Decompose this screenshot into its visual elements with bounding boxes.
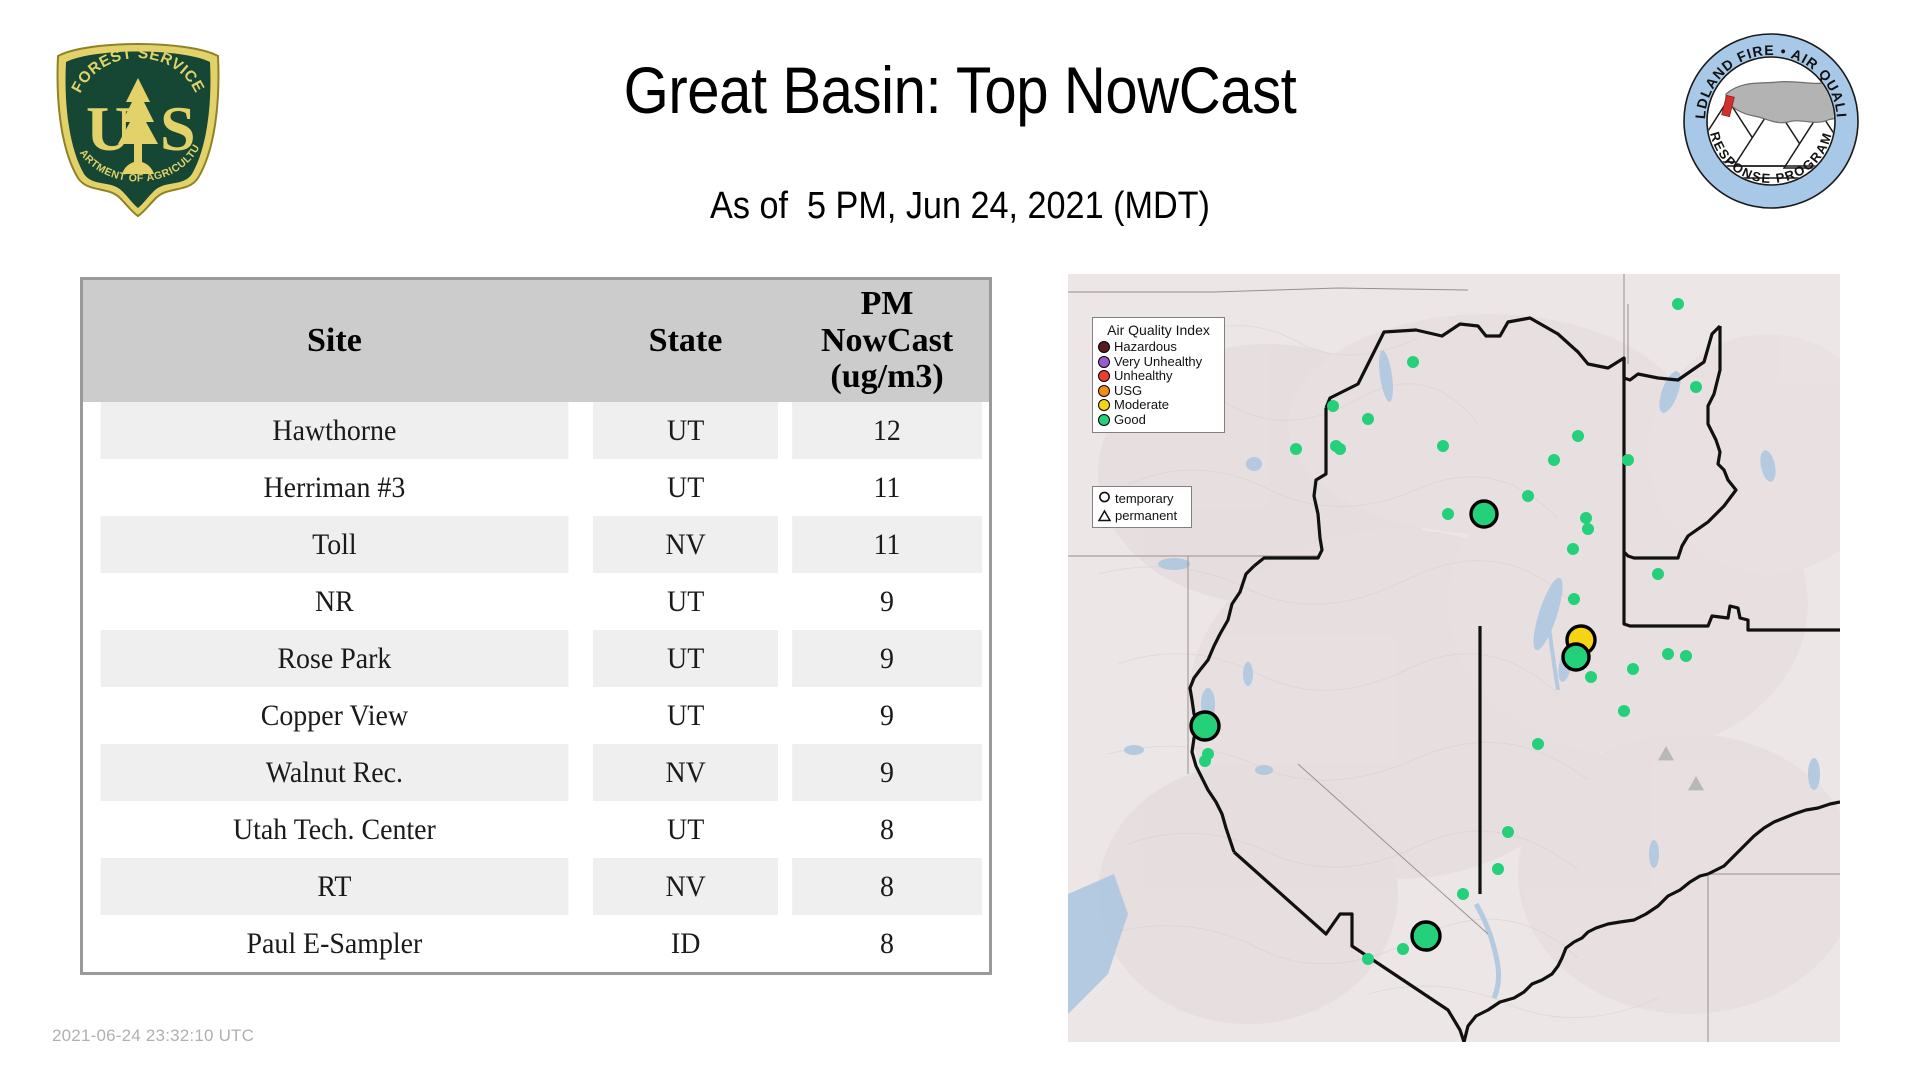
aqi-legend-label: USG bbox=[1114, 384, 1142, 398]
pm-header-line-3: (ug/m3) bbox=[785, 359, 989, 396]
aqi-legend-label: Very Unhealthy bbox=[1114, 355, 1202, 369]
aqi-legend-item-good: Good bbox=[1098, 413, 1219, 428]
map-marker-good[interactable] bbox=[1522, 490, 1534, 502]
aqi-legend-label: Good bbox=[1114, 413, 1146, 427]
map-marker-good[interactable] bbox=[1680, 650, 1692, 662]
map-marker-good[interactable] bbox=[1672, 298, 1684, 310]
table-row[interactable]: Walnut Rec.NV9 bbox=[83, 744, 989, 801]
aqi-legend-label: Moderate bbox=[1114, 398, 1169, 412]
map-marker-good[interactable] bbox=[1585, 671, 1597, 683]
map-marker-good[interactable] bbox=[1690, 381, 1702, 393]
page-title: Great Basin: Top NowCast bbox=[115, 52, 1805, 128]
cell-site: Copper View bbox=[101, 687, 569, 744]
aqi-legend-item-hazardous: Hazardous bbox=[1098, 340, 1219, 355]
cell-site: Rose Park bbox=[101, 630, 569, 687]
triangle-icon bbox=[1097, 508, 1112, 523]
cell-pm: 9 bbox=[792, 630, 982, 687]
aqi-legend-rows: HazardousVery UnhealthyUnhealthyUSGModer… bbox=[1098, 340, 1219, 427]
aqi-swatch-icon bbox=[1098, 385, 1110, 397]
map-marker-good[interactable] bbox=[1567, 543, 1579, 555]
cell-pm: 8 bbox=[792, 915, 982, 972]
table-row[interactable]: HawthorneUT12 bbox=[83, 402, 989, 459]
legend-row-temporary: temporary bbox=[1097, 490, 1187, 507]
pm-header-line-2: NowCast bbox=[785, 323, 989, 360]
map-marker-highlighted-good[interactable] bbox=[1471, 501, 1497, 527]
cell-state: NV bbox=[593, 858, 778, 915]
cell-state: UT bbox=[593, 687, 778, 744]
nowcast-table: Site State PM NowCast (ug/m3) HawthorneU… bbox=[80, 277, 992, 975]
table-row[interactable]: Herriman #3UT11 bbox=[83, 459, 989, 516]
map-marker-good[interactable] bbox=[1327, 400, 1339, 412]
column-header-state[interactable]: State bbox=[586, 280, 785, 402]
aqi-legend-label: Hazardous bbox=[1114, 340, 1177, 354]
cell-site: Hawthorne bbox=[101, 402, 569, 459]
cell-pm: 8 bbox=[792, 858, 982, 915]
table-header-row: Site State PM NowCast (ug/m3) bbox=[83, 280, 989, 402]
cell-site: Utah Tech. Center bbox=[101, 801, 569, 858]
map-marker-good[interactable] bbox=[1652, 568, 1664, 580]
legend-label-permanent: permanent bbox=[1115, 509, 1177, 523]
map-marker-good[interactable] bbox=[1618, 705, 1630, 717]
aqi-legend-item-unhealthy: Unhealthy bbox=[1098, 369, 1219, 384]
aqi-legend-item-moderate: Moderate bbox=[1098, 398, 1219, 413]
map-marker-good[interactable] bbox=[1492, 863, 1504, 875]
cell-state: ID bbox=[593, 915, 778, 972]
map-marker-good[interactable] bbox=[1290, 443, 1302, 455]
cell-pm: 12 bbox=[792, 402, 982, 459]
map-marker-good[interactable] bbox=[1568, 593, 1580, 605]
cell-pm: 9 bbox=[792, 744, 982, 801]
cell-site: Herriman #3 bbox=[101, 459, 569, 516]
cell-state: UT bbox=[593, 573, 778, 630]
map-marker-good[interactable] bbox=[1334, 443, 1346, 455]
map-marker-good[interactable] bbox=[1572, 430, 1584, 442]
table-row[interactable]: RTNV8 bbox=[83, 858, 989, 915]
table-body: HawthorneUT12Herriman #3UT11TollNV11NRUT… bbox=[83, 402, 989, 972]
cell-pm: 9 bbox=[792, 573, 982, 630]
cell-state: UT bbox=[593, 459, 778, 516]
aqi-legend-item-very-unhealthy: Very Unhealthy bbox=[1098, 355, 1219, 370]
aqi-swatch-icon bbox=[1098, 356, 1110, 368]
map-marker-good[interactable] bbox=[1437, 440, 1449, 452]
aqi-legend: Air Quality Index HazardousVery Unhealth… bbox=[1092, 317, 1225, 433]
map-marker-good[interactable] bbox=[1548, 454, 1560, 466]
pm-header-line-1: PM bbox=[785, 286, 989, 323]
map-marker-good[interactable] bbox=[1662, 648, 1674, 660]
cell-pm: 11 bbox=[792, 516, 982, 573]
cell-state: UT bbox=[593, 402, 778, 459]
cell-pm: 11 bbox=[792, 459, 982, 516]
footer-timestamp: 2021-06-24 23:32:10 UTC bbox=[52, 1026, 254, 1046]
cell-pm: 9 bbox=[792, 687, 982, 744]
column-header-pm-nowcast[interactable]: PM NowCast (ug/m3) bbox=[785, 280, 989, 402]
aqi-legend-title: Air Quality Index bbox=[1098, 322, 1219, 338]
map-marker-good[interactable] bbox=[1582, 523, 1594, 535]
cell-state: UT bbox=[593, 630, 778, 687]
map-marker-good[interactable] bbox=[1502, 826, 1514, 838]
column-header-site[interactable]: Site bbox=[83, 280, 586, 402]
aqi-swatch-icon bbox=[1098, 341, 1110, 353]
page-subtitle: As of 5 PM, Jun 24, 2021 (MDT) bbox=[96, 185, 1824, 228]
map-marker-highlighted-good[interactable] bbox=[1191, 712, 1219, 740]
map-marker-good[interactable] bbox=[1442, 508, 1454, 520]
table-row[interactable]: Rose ParkUT9 bbox=[83, 630, 989, 687]
cell-site: RT bbox=[101, 858, 569, 915]
cell-site: NR bbox=[101, 573, 569, 630]
cell-site: Walnut Rec. bbox=[101, 744, 569, 801]
aqi-swatch-icon bbox=[1098, 399, 1110, 411]
legend-label-temporary: temporary bbox=[1115, 492, 1174, 506]
air-quality-map[interactable]: Air Quality Index HazardousVery Unhealth… bbox=[1068, 274, 1840, 1042]
legend-row-permanent: permanent bbox=[1097, 507, 1187, 524]
table-row[interactable]: Utah Tech. CenterUT8 bbox=[83, 801, 989, 858]
map-marker-highlighted-good[interactable] bbox=[1563, 644, 1589, 670]
table-row[interactable]: Paul E-SamplerID8 bbox=[83, 915, 989, 972]
map-marker-good[interactable] bbox=[1362, 953, 1374, 965]
cell-state: UT bbox=[593, 801, 778, 858]
cell-state: NV bbox=[593, 744, 778, 801]
table-row[interactable]: Copper ViewUT9 bbox=[83, 687, 989, 744]
map-marker-good[interactable] bbox=[1532, 738, 1544, 750]
circle-icon bbox=[1097, 491, 1112, 506]
site-type-legend: temporary permanent bbox=[1092, 486, 1192, 528]
cell-site: Toll bbox=[101, 516, 569, 573]
map-marker-good[interactable] bbox=[1627, 663, 1639, 675]
map-marker-good[interactable] bbox=[1199, 755, 1211, 767]
map-marker-good[interactable] bbox=[1622, 454, 1634, 466]
map-marker-good[interactable] bbox=[1397, 943, 1409, 955]
map-marker-good[interactable] bbox=[1362, 413, 1374, 425]
aqi-legend-item-usg: USG bbox=[1098, 384, 1219, 399]
map-marker-good[interactable] bbox=[1407, 356, 1419, 368]
table-row[interactable]: NRUT9 bbox=[83, 573, 989, 630]
map-marker-good[interactable] bbox=[1457, 888, 1469, 900]
aqi-swatch-icon bbox=[1098, 414, 1110, 426]
map-marker-good[interactable] bbox=[1580, 512, 1592, 524]
table-row[interactable]: TollNV11 bbox=[83, 516, 989, 573]
cell-pm: 8 bbox=[792, 801, 982, 858]
cell-state: NV bbox=[593, 516, 778, 573]
map-marker-highlighted-good[interactable] bbox=[1412, 922, 1440, 950]
cell-site: Paul E-Sampler bbox=[101, 915, 569, 972]
aqi-legend-label: Unhealthy bbox=[1114, 369, 1173, 383]
aqi-swatch-icon bbox=[1098, 370, 1110, 382]
